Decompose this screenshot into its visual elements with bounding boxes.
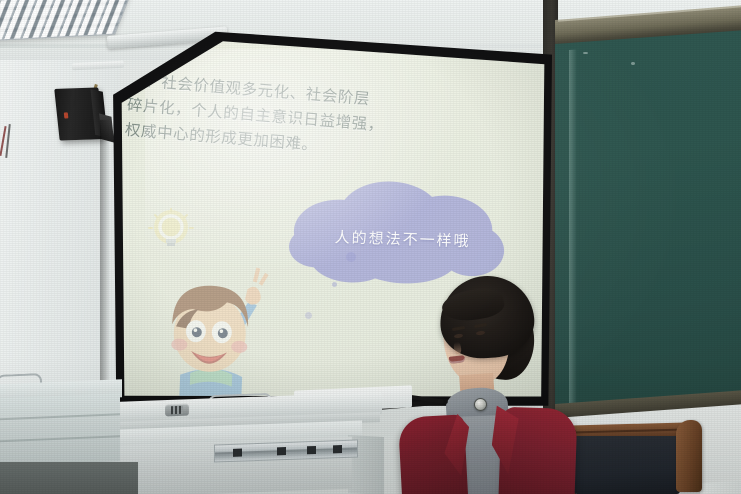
decor-dot [305,312,312,319]
chalk-speck [583,52,588,54]
chalk-speck [631,62,635,65]
classroom-photo: 1、社会价值观多元化、社会阶层 碎片化，个人的自主意识日益增强， 权威中心的形成… [0,0,741,494]
presenter [404,276,594,494]
cartoon-boy-icon [149,246,285,408]
lapel-pin-badge [474,398,487,411]
rail-stop [277,447,286,455]
slide-text-block: 1、社会价值观多元化、社会阶层 碎片化，个人的自主意识日益增强， 权威中心的形成… [124,68,529,175]
floor [0,462,138,494]
lectern-lid-latch[interactable] [165,404,189,417]
rail-stop [307,446,316,454]
thought-bubble: 人的想法不一样哦 [283,172,513,292]
decor-dot [332,282,337,287]
rail-stop [233,449,242,457]
cabinet-body [0,393,120,467]
screen-left-shadow [100,120,110,408]
speaker-indicator-led [64,112,69,118]
decor-dot [346,252,356,262]
loudspeaker-icon [54,87,104,140]
chair-armrest [676,420,702,492]
rail-stop [333,445,342,453]
louver-grid [0,0,130,40]
